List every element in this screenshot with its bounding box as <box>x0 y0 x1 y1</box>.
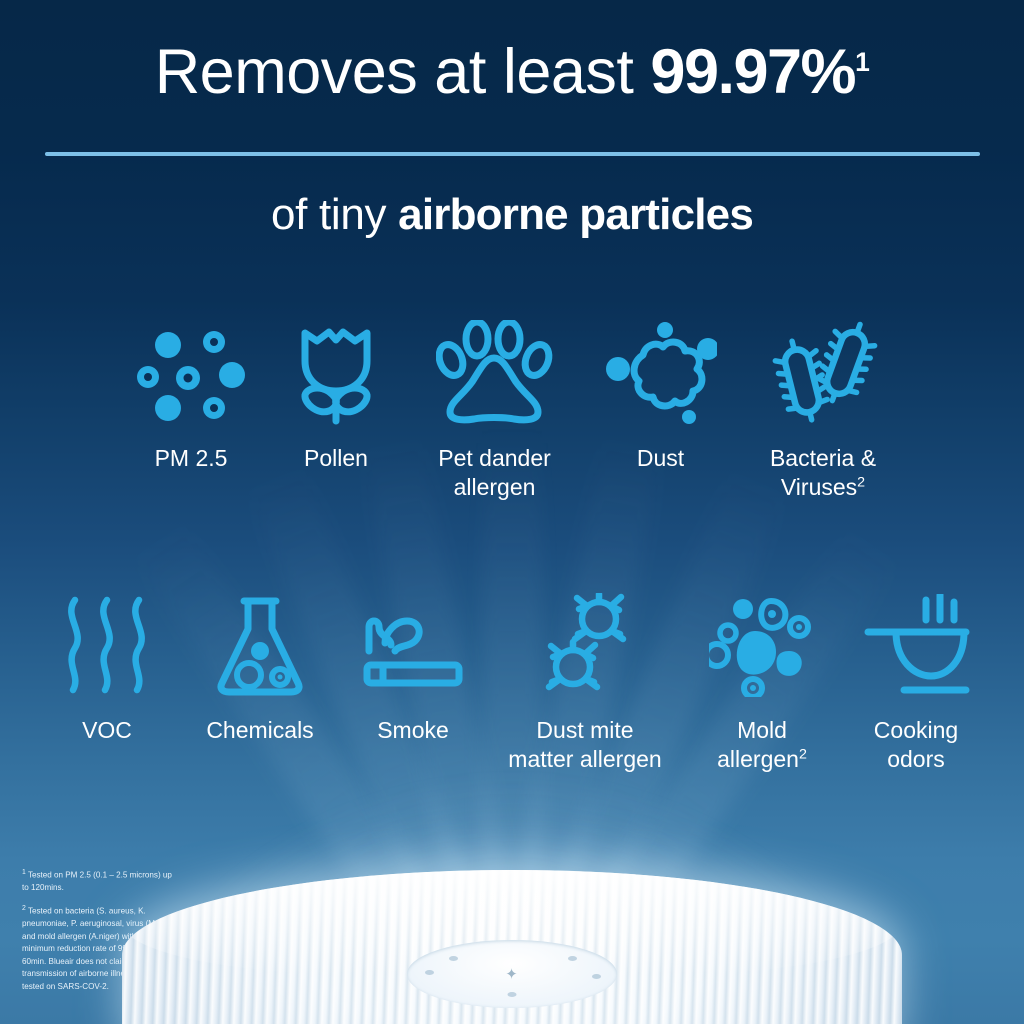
pollutant-item-cooking-odors: Cooking odors <box>841 590 991 775</box>
pollutant-label: Cooking odors <box>874 716 958 775</box>
pollutant-item-chemicals: Chemicals <box>181 590 339 745</box>
footnote-marker: 1 <box>22 869 26 876</box>
mold-spores-icon <box>709 590 815 700</box>
subheadline-emphasis: airborne particles <box>398 190 753 239</box>
footnote-marker: 2 <box>857 475 865 491</box>
pollutant-item-pollen: Pollen <box>269 318 404 473</box>
air-purifier: ✦ <box>122 870 902 1024</box>
pollutant-label: Dust <box>637 444 684 473</box>
footnote-marker: 2 <box>799 747 807 763</box>
headline-footnote-marker: 1 <box>855 47 869 77</box>
infographic-canvas: Removes at least 99.97%1 of tiny airborn… <box>0 0 1024 1024</box>
panel-indicator[interactable] <box>568 956 577 961</box>
panel-indicator[interactable] <box>425 970 434 975</box>
panel-indicator[interactable] <box>449 956 458 961</box>
pollutant-item-bacteria-viruses: Bacteria & Viruses2 <box>736 318 911 503</box>
pollutant-label: Chemicals <box>206 716 313 745</box>
dust-mite-icon <box>533 590 637 700</box>
headline: Removes at least 99.97%1 <box>0 38 1024 106</box>
pet-dander-paw-icon <box>436 318 554 428</box>
subheadline-prefix: of tiny <box>271 190 398 239</box>
panel-indicator[interactable] <box>508 992 517 997</box>
pollutant-item-mold: Mold allergen2 <box>683 590 841 775</box>
smoke-cigarette-icon <box>361 590 465 700</box>
header-divider <box>45 152 980 156</box>
gases-odors-row: VOC Chemicals <box>0 590 1024 775</box>
pollutant-item-dust: Dust <box>586 318 736 473</box>
subheadline: of tiny airborne particles <box>0 190 1024 240</box>
pollutant-label: Pet dander allergen <box>438 444 551 503</box>
footnote-marker: 2 <box>22 905 26 912</box>
headline-percentage: 99.97% <box>650 37 855 107</box>
chemicals-flask-icon <box>212 590 308 700</box>
dust-cloud-icon <box>605 318 717 428</box>
purifier-control-panel[interactable]: ✦ <box>407 940 617 1008</box>
pollutant-item-dust-mite: Dust mite matter allergen <box>487 590 683 775</box>
cooking-odors-pan-icon <box>860 590 972 700</box>
pollutant-label: Mold allergen2 <box>717 716 807 775</box>
headline-prefix: Removes at least <box>155 37 651 107</box>
pollutant-item-pet-dander: Pet dander allergen <box>404 318 586 503</box>
pollen-flower-icon <box>291 318 381 428</box>
pollutant-item-pm25: PM 2.5 <box>114 318 269 473</box>
pollutant-item-smoke: Smoke <box>339 590 487 745</box>
pollutant-label: Smoke <box>377 716 449 745</box>
pollutant-label: Pollen <box>304 444 368 473</box>
pollutant-label: VOC <box>82 716 132 745</box>
pollutant-label: PM 2.5 <box>155 444 228 473</box>
pollutant-item-voc: VOC <box>33 590 181 745</box>
pollutant-label: Bacteria & Viruses2 <box>770 444 876 503</box>
purifier-body: ✦ <box>122 870 902 1024</box>
panel-indicator[interactable] <box>592 974 601 979</box>
brand-logo: ✦ <box>505 965 519 983</box>
pm25-particles-icon <box>135 318 247 428</box>
airborne-particles-row: PM 2.5 Pollen <box>0 318 1024 503</box>
voc-waves-icon <box>59 590 155 700</box>
pollutant-label: Dust mite matter allergen <box>508 716 661 775</box>
bacteria-virus-icon <box>768 318 878 428</box>
